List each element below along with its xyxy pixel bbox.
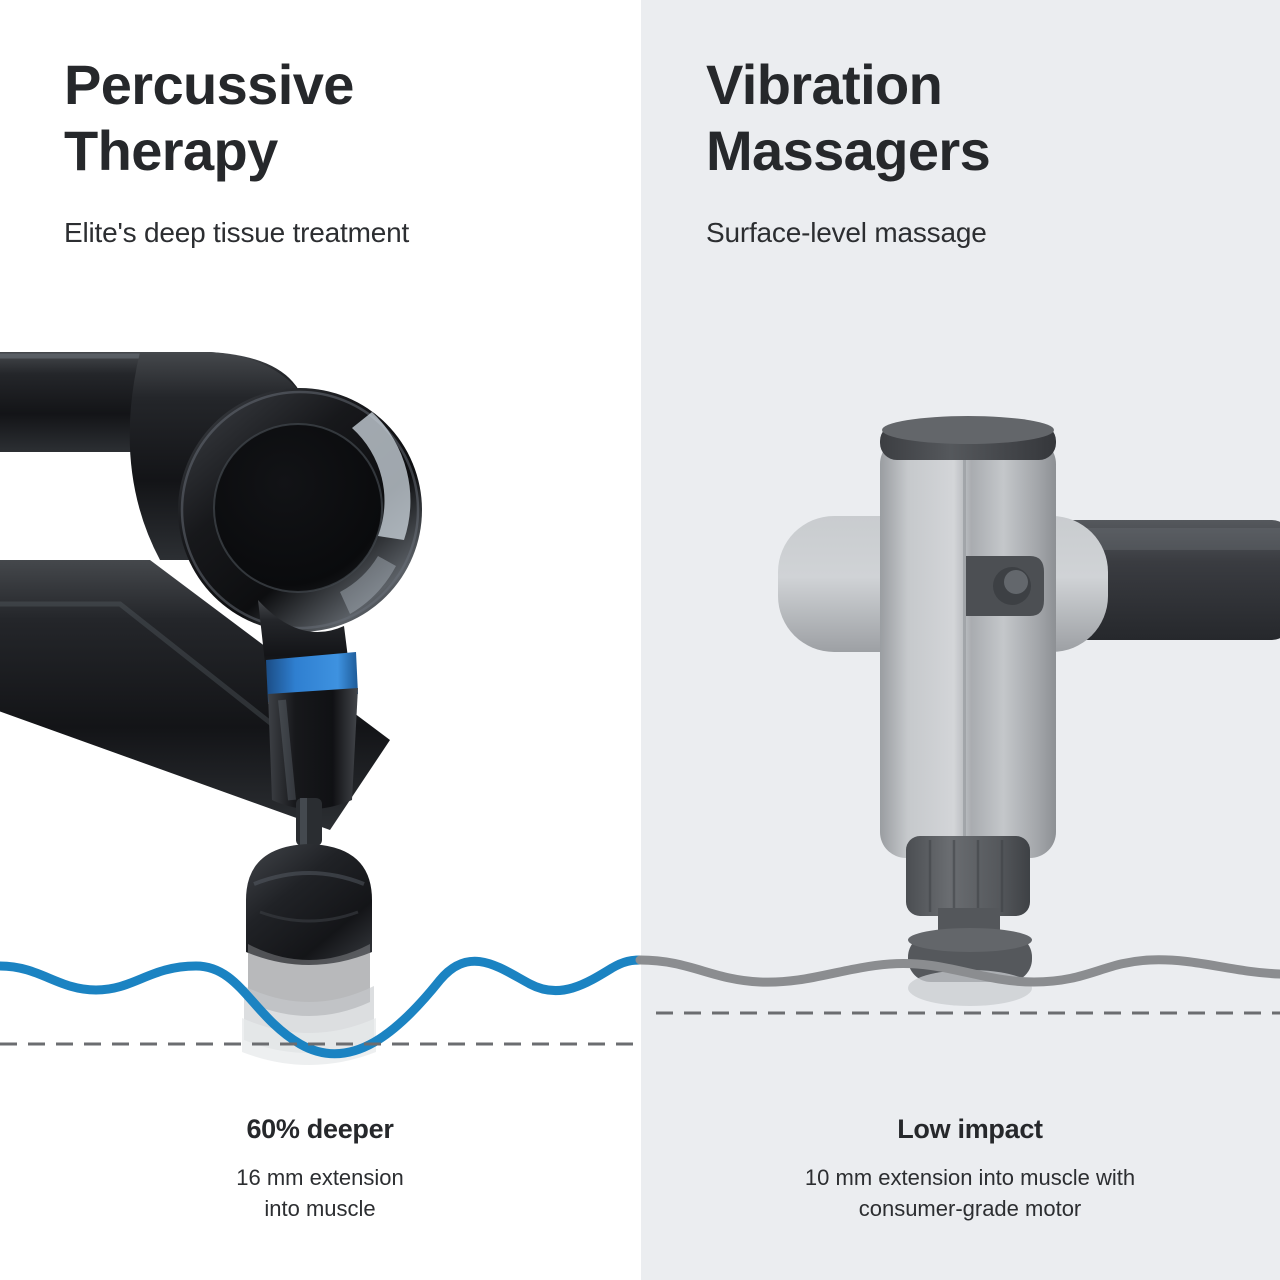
- attachment-head: [246, 844, 372, 965]
- percussive-heading-block: Percussive Therapy Elite's deep tissue t…: [64, 52, 624, 252]
- percussive-caption-sub: 16 mm extension into muscle: [80, 1162, 560, 1224]
- vibration-heading-block: Vibration Massagers Surface-level massag…: [706, 52, 1266, 252]
- vibration-subtitle: Surface-level massage: [706, 214, 1266, 252]
- percussive-caption-block: 60% deeper 16 mm extension into muscle: [80, 1112, 560, 1224]
- vibration-title: Vibration Massagers: [706, 52, 1266, 184]
- attachment-collar: [906, 836, 1030, 916]
- stroke-motion-ghosts: [242, 944, 376, 1065]
- percussive-title: Percussive Therapy: [64, 52, 624, 184]
- vibration-massager-illustration: [778, 416, 1280, 1006]
- vibration-caption-block: Low impact 10 mm extension into muscle w…: [700, 1112, 1240, 1224]
- percussive-caption-title: 60% deeper: [80, 1112, 560, 1146]
- percussive-massage-gun-illustration: [0, 352, 422, 1065]
- vibration-caption-sub: 10 mm extension into muscle with consume…: [700, 1162, 1240, 1224]
- percussive-subtitle: Elite's deep tissue treatment: [64, 214, 624, 252]
- shallow-stroke-ghost: [908, 970, 1032, 1006]
- vibration-caption-title: Low impact: [700, 1112, 1240, 1146]
- comparison-graphic: Percussive Therapy Elite's deep tissue t…: [0, 0, 1280, 1280]
